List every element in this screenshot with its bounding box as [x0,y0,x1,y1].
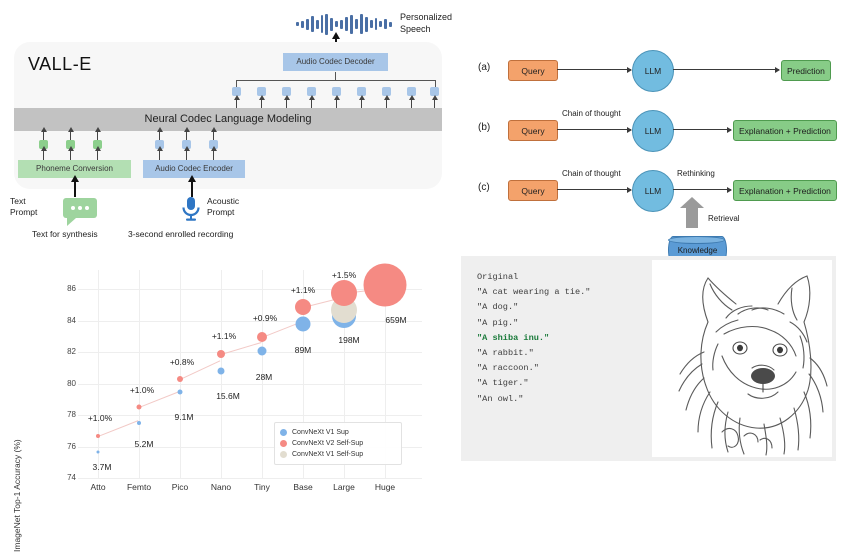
edge-label-chain-of-thought-c: Chain of thought [562,169,621,178]
x-tick-atto: Atto [90,482,105,492]
params-annotation-femto: 5.2M [135,439,154,449]
prompt-line: "A dog." [477,300,590,315]
plot-area: 74 76 78 80 82 84 86 Atto Femto Pico Nan… [78,270,422,478]
prompt-list-panel: Original "A cat wearing a tie." "A dog."… [461,256,836,461]
gridline-h [78,352,422,353]
edge-query-to-llm-a [557,69,631,70]
arrow-token-to-lm [43,131,44,140]
text-prompt-line2: Prompt [10,207,37,218]
params-annotation-large: 198M [338,335,359,345]
x-tick-tiny: Tiny [254,482,270,492]
x-tick-large: Large [333,482,355,492]
microphone-icon [180,196,202,222]
bracket-stem [335,72,336,81]
arrow-lm-to-token [261,99,262,108]
arrow-lm-to-token [361,99,362,108]
point-v2selfsup-tiny [257,332,267,342]
point-v1sup-nano [218,368,225,375]
params-annotation-base: 89M [295,345,312,355]
query-box-b[interactable]: Query [508,120,558,141]
audio-waveform-icon [296,13,392,35]
arrow-acoustic-prompt [191,181,193,197]
acoustic-prompt-line2: Prompt [207,207,239,218]
llm-flow-diagram: (a) Query LLM Prediction (b) Query Chain… [470,40,842,245]
text-prompt-line1: Text [10,196,37,207]
x-tick-pico: Pico [172,482,189,492]
enrolled-recording-caption: 3-second enrolled recording [128,229,233,239]
params-annotation-pico: 9.1M [175,412,194,422]
x-tick-nano: Nano [211,482,231,492]
arrow-lm-to-token [311,99,312,108]
y-tick: 74 [36,473,76,482]
legend-swatch-v1-sup [280,429,287,436]
params-annotation-huge: 659M [385,315,406,325]
point-v2selfsup-atto [96,434,100,438]
llm-node-a[interactable]: LLM [632,50,674,92]
flow-row-a: (a) Query LLM Prediction [470,48,842,98]
delta-annotation-tiny: +0.9% [253,313,277,323]
point-v1sup-atto [97,450,100,453]
point-v1sup-pico [178,389,183,394]
delta-annotation-nano: +1.1% [212,331,236,341]
valle-diagram: Personalized Speech VALL-E Audio Codec D… [0,0,460,250]
edge-llm-to-output-b [673,129,731,130]
prompt-line: "A rabbit." [477,346,590,361]
text-prompt-label: Text Prompt [10,196,37,217]
query-box-c[interactable]: Query [508,180,558,201]
prompt-line: "An owl." [477,392,590,407]
arrow-lm-to-token [386,99,387,108]
shiba-inu-sketch-image [652,260,832,457]
x-tick-base: Base [293,482,312,492]
legend-swatch-v1-self-sup [280,451,287,458]
explanation-prediction-box-c[interactable]: Explanation + Prediction [733,180,837,201]
chart-legend: ConvNeXt V1 Sup ConvNeXt V2 Self-Sup Con… [274,422,402,465]
params-annotation-atto: 3.7M [93,462,112,472]
gridline-h [78,478,422,479]
valle-title: VALL-E [28,54,92,75]
arrow-lm-to-token [336,99,337,108]
arrow-encoder-to-token [70,150,71,160]
edge-query-to-llm-c [557,189,631,190]
personalized-speech-line1: Personalized [400,11,452,23]
prompt-line: "A cat wearing a tie." [477,285,590,300]
y-tick: 86 [36,284,76,293]
legend-label-v1-sup: ConvNeXt V1 Sup [292,429,349,436]
arrow-encoder-to-token [186,150,187,160]
arrow-token-to-lm [213,131,214,140]
legend-label-v2-self-sup: ConvNeXt V2 Self-Sup [292,440,363,447]
query-box-a[interactable]: Query [508,60,558,81]
x-tick-femto: Femto [127,482,151,492]
arrow-lm-to-token [236,99,237,108]
delta-annotation-large: +1.5% [332,270,356,280]
delta-annotation-pico: +0.8% [170,357,194,367]
point-v2selfsup-huge [364,263,407,306]
speech-bubble-icon [63,198,97,218]
acoustic-prompt-label: Acoustic Prompt [207,196,239,217]
token-bracket [236,80,436,87]
prompt-line-highlighted: "A shiba inu." [477,331,590,346]
delta-annotation-atto: +1.0% [88,413,112,423]
up-arrow-icon [686,208,698,228]
llm-node-b[interactable]: LLM [632,110,674,152]
audio-codec-decoder-block: Audio Codec Decoder [283,53,388,71]
params-annotation-tiny: 28M [256,372,273,382]
legend-swatch-v2-self-sup [280,440,287,447]
edge-llm-to-output-c [673,189,731,190]
legend-item-v1-sup[interactable]: ConvNeXt V1 Sup [280,427,396,438]
legend-item-v2-self-sup[interactable]: ConvNeXt V2 Self-Sup [280,438,396,449]
prompt-line: "A raccoon." [477,361,590,376]
gridline-h [78,321,422,322]
text-for-synthesis-caption: Text for synthesis [32,229,98,239]
gridline-h [78,415,422,416]
arrow-encoder-to-token [43,150,44,160]
prompt-line: "A tiger." [477,376,590,391]
y-tick: 76 [36,442,76,451]
row-tag-c: (c) [478,182,490,193]
point-v2selfsup-pico [177,376,183,382]
arrow-token-to-lm [159,131,160,140]
edge-llm-to-output-a [673,69,779,70]
params-annotation-nano: 15.6M [216,391,240,401]
shiba-sketch-svg [652,260,832,457]
y-tick: 78 [36,410,76,419]
prompt-text-block: Original "A cat wearing a tie." "A dog."… [477,270,590,407]
delta-annotation-base: +1.1% [291,285,315,295]
legend-label-v1-self-sup: ConvNeXt V1 Self-Sup [292,451,363,458]
flow-row-b: (b) Query Chain of thought LLM Explanati… [470,108,842,158]
explanation-prediction-box-b[interactable]: Explanation + Prediction [733,120,837,141]
point-v1sup-femto [137,421,141,425]
point-v2selfsup-large [331,280,357,306]
prompt-header: Original [477,270,590,285]
neural-codec-lm-block: Neural Codec Language Modeling [14,108,442,131]
arrow-token-to-lm [97,131,98,140]
arrow-encoder-to-token [159,150,160,160]
edge-label-rethinking: Rethinking [677,169,715,178]
edge-query-to-llm-b [557,129,631,130]
arrow-lm-to-token [286,99,287,108]
personalized-speech-line2: Speech [400,23,452,35]
delta-annotation-femto: +1.0% [130,385,154,395]
row-tag-a: (a) [478,62,490,73]
y-tick: 82 [36,347,76,356]
prediction-box-a[interactable]: Prediction [781,60,831,81]
arrow-token-to-lm [186,131,187,140]
gridline-v [98,270,99,478]
y-axis-label: ImageNet Top-1 Accuracy (%) [12,439,22,552]
y-tick: 84 [36,316,76,325]
y-tick: 80 [36,379,76,388]
row-tag-b: (b) [478,122,490,133]
llm-node-c[interactable]: LLM [632,170,674,212]
acoustic-prompt-line1: Acoustic [207,196,239,207]
arrow-text-prompt [74,181,76,197]
point-v2selfsup-nano [217,350,225,358]
point-v2selfsup-base [295,299,311,315]
legend-item-v1-self-sup[interactable]: ConvNeXt V1 Self-Sup [280,449,396,460]
arrow-lm-to-token [411,99,412,108]
x-tick-huge: Huge [375,482,395,492]
gridline-v [180,270,181,478]
convnext-scaling-chart: ImageNet Top-1 Accuracy (%) 74 76 78 80 … [18,252,450,514]
retrieval-label: Retrieval [708,214,740,223]
personalized-speech-label: Personalized Speech [400,11,452,35]
point-v2selfsup-femto [137,405,142,410]
flow-row-c: (c) Query Chain of thought LLM Rethinkin… [470,168,842,218]
arrow-token-to-lm [70,131,71,140]
point-v1sup-tiny [258,346,267,355]
arrow-encoder-to-token [213,150,214,160]
arrow-lm-to-token [434,99,435,108]
point-v1sup-base [296,317,311,332]
arrow-encoder-to-token [97,150,98,160]
edge-label-chain-of-thought-b: Chain of thought [562,109,621,118]
prompt-line: "A pig." [477,316,590,331]
